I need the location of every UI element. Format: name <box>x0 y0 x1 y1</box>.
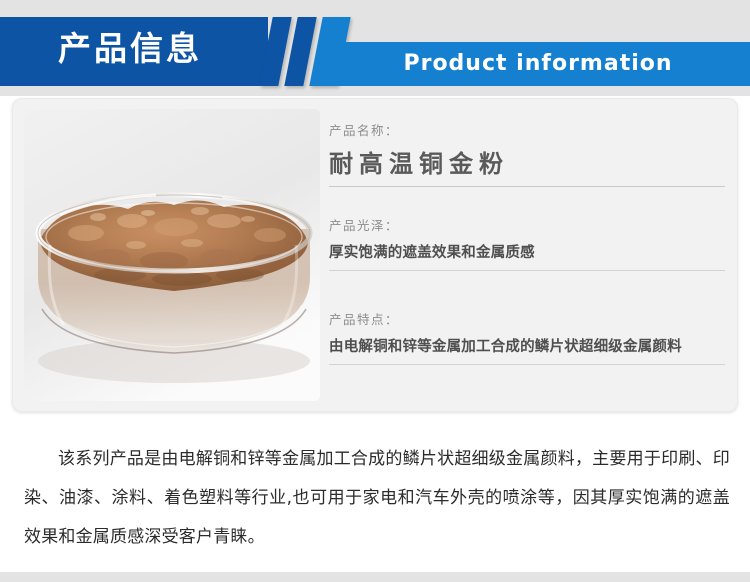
spec-row-gloss: 产品光泽： 厚实饱满的遮盖效果和金属质感 <box>329 217 727 271</box>
spec-row-features: 产品特点： 由电解铜和锌等金属加工合成的鳞片状超细级金属颜料 <box>329 311 727 365</box>
spec-value-name: 耐高温铜金粉 <box>329 148 727 180</box>
footer-strip <box>0 572 750 582</box>
spec-divider-3 <box>329 364 725 365</box>
page-banner: 产品信息 Product information <box>0 0 750 96</box>
spec-value-features: 由电解铜和锌等金属加工合成的鳞片状超细级金属颜料 <box>329 336 727 358</box>
spec-divider-2 <box>329 270 725 271</box>
product-photo <box>24 109 320 401</box>
spec-label-name: 产品名称： <box>329 122 727 140</box>
spec-label-features: 产品特点： <box>329 311 727 329</box>
spec-row-name: 产品名称： 耐高温铜金粉 <box>329 122 727 187</box>
banner-title-english: Product information <box>368 45 708 83</box>
spec-label-gloss: 产品光泽： <box>329 217 727 235</box>
spec-value-gloss: 厚实饱满的遮盖效果和金属质感 <box>329 242 727 264</box>
product-spec-list: 产品名称： 耐高温铜金粉 产品光泽： 厚实饱满的遮盖效果和金属质感 产品特点： … <box>329 113 727 399</box>
product-info-card: 产品名称： 耐高温铜金粉 产品光泽： 厚实饱满的遮盖效果和金属质感 产品特点： … <box>12 98 738 412</box>
product-photo-illustration <box>24 109 320 401</box>
spec-divider-1 <box>329 186 725 187</box>
banner-title-chinese: 产品信息 <box>58 26 202 72</box>
product-description: 该系列产品是由电解铜和锌等金属加工合成的鳞片状超细级金属颜料，主要用于印刷、印染… <box>24 440 730 557</box>
